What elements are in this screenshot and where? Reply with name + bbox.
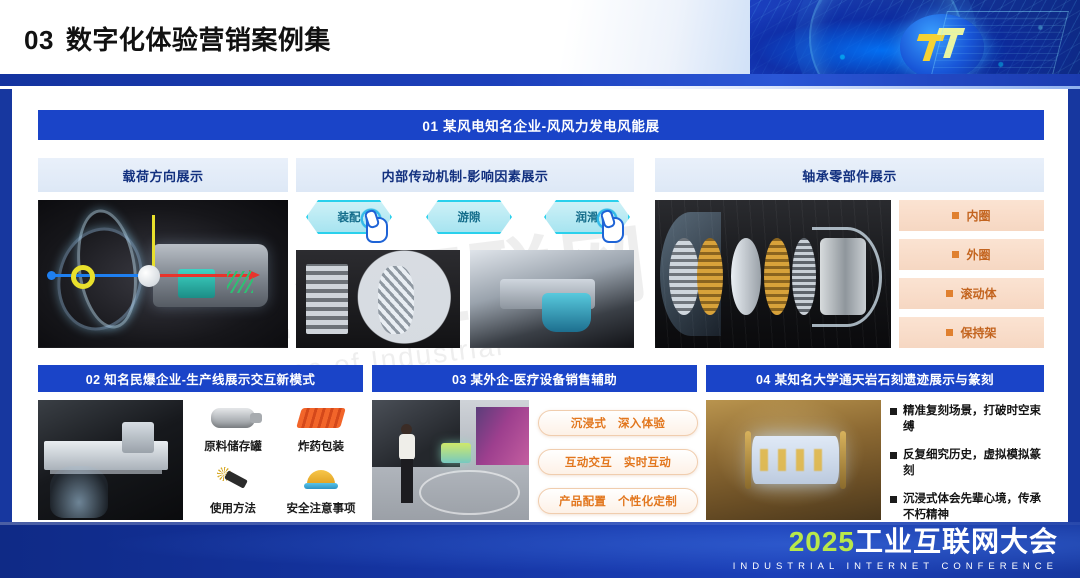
- dynamite-usage-icon: [190, 460, 276, 500]
- section-4-title-bar: 04 某知名大学通天岩石刻遗迹展示与篆刻: [706, 365, 1044, 392]
- bullet-square-icon: [946, 290, 953, 297]
- turbine-hub: [138, 265, 160, 287]
- bearing-part-label: 保持架: [960, 324, 996, 341]
- section-3-title-bar: 03 某外企-医疗设备销售辅助: [372, 365, 697, 392]
- bullet-text: 精准复刻场景，打破时空束缚: [903, 404, 1044, 435]
- panel-head-bearing-parts: 轴承零部件展示: [655, 158, 1044, 192]
- bearing-ring-3: [731, 238, 761, 315]
- presenter-figure: [399, 424, 416, 510]
- header-orb-decoration: [900, 14, 984, 80]
- page-title-number: 03: [24, 25, 54, 55]
- icon-item-label: 原料储存罐: [190, 438, 276, 454]
- vr-hand-overlay: [50, 466, 108, 518]
- slide-root: 03数字化体验营销案例集 工业互联网 Alliance of Industria…: [0, 0, 1080, 578]
- icon-item-label: 使用方法: [190, 500, 276, 516]
- icon-item-label: 安全注意事项: [278, 500, 364, 516]
- bullet-item-2: 反复细究历史，虚拟模拟篆刻: [890, 448, 1044, 479]
- panel-head-internal-mechanism: 内部传动机制-影响因素展示: [296, 158, 634, 192]
- bullet-square-icon: [890, 452, 897, 459]
- bullet-square-icon: [890, 496, 897, 503]
- bearing-part-label: 外圈: [966, 246, 990, 263]
- axis-arrow-blue: [53, 274, 143, 277]
- bearing-exploded-image: [655, 200, 891, 348]
- bearing-part-label: 内圈: [966, 207, 990, 224]
- right-edge-bar: [1068, 89, 1080, 522]
- experience-pill-list: 沉浸式 深入体验 互动交互 实时互动 产品配置 个性化定制: [538, 410, 698, 516]
- bullet-text: 反复细究历史，虚拟模拟篆刻: [903, 448, 1044, 479]
- bearing-part-rolling-element[interactable]: 滚动体: [899, 278, 1044, 309]
- slide-header: 03数字化体验营销案例集: [0, 0, 1080, 92]
- section-4-bullet-list: 精准复刻场景，打破时空束缚 反复细究历史，虚拟模拟篆刻 沉浸式体会先辈心境，传承…: [890, 404, 1044, 536]
- bullet-square-icon: [952, 212, 959, 219]
- conference-name-en: INDUSTRIAL INTERNET CONFERENCE: [733, 561, 1058, 572]
- showroom-floor-ring: [419, 470, 519, 516]
- explosive-package-icon: [278, 398, 364, 438]
- icon-item-safety-notes[interactable]: 安全注意事项: [278, 460, 364, 522]
- bullet-square-icon: [946, 329, 953, 336]
- bullet-item-1: 精准复刻场景，打破时空束缚: [890, 404, 1044, 435]
- lubrication-detail-image: [470, 250, 634, 348]
- bullet-item-3: 沉浸式体会先辈心境，传承不朽精神: [890, 492, 1044, 523]
- page-title-text: 数字化体验营销案例集: [66, 25, 331, 55]
- page-title: 03数字化体验营销案例集: [24, 20, 331, 57]
- panel-head-load-direction: 载荷方向展示: [38, 158, 288, 192]
- bearing-parts-list: 内圈 外圈 滚动体 保持架: [899, 200, 1044, 348]
- axis-ring-yellow-icon: [71, 265, 95, 289]
- cave-carving-projection-image: [706, 400, 881, 520]
- slide-footer: 2025工业互联网大会 INDUSTRIAL INTERNET CONFEREN…: [0, 522, 1080, 578]
- storage-tank-icon: [190, 398, 276, 438]
- bearing-part-outer-ring[interactable]: 外圈: [899, 239, 1044, 270]
- showroom-presenter-image: [372, 400, 529, 520]
- hex-button-clearance[interactable]: 游隙: [426, 200, 512, 234]
- conference-year: 2025: [789, 526, 855, 557]
- bullet-square-icon: [952, 251, 959, 258]
- conference-name-cn: 工业互联网大会: [855, 526, 1058, 557]
- projected-scroll: [752, 436, 840, 484]
- flow-arrows-green-icon: [227, 271, 253, 293]
- bullet-square-icon: [890, 408, 897, 415]
- pill-immersive[interactable]: 沉浸式 深入体验: [538, 410, 698, 436]
- scroll-inscription: [760, 449, 830, 470]
- holographic-object: [441, 443, 471, 463]
- pill-interactive[interactable]: 互动交互 实时互动: [538, 449, 698, 475]
- icon-item-label: 炸药包装: [278, 438, 364, 454]
- icon-item-explosive-package[interactable]: 炸药包装: [278, 398, 364, 460]
- bearing-ring-4: [764, 238, 790, 315]
- pill-configuration[interactable]: 产品配置 个性化定制: [538, 488, 698, 514]
- click-cursor-icon-2: [592, 206, 636, 246]
- production-line-vr-image: [38, 400, 183, 520]
- wind-turbine-load-direction-image: [38, 200, 288, 348]
- it-logo-icon: [918, 28, 966, 64]
- mechanism-hex-button-row: 装配 游隙 润滑: [296, 200, 634, 244]
- left-edge-bar: [0, 89, 12, 522]
- click-cursor-icon-1: [356, 206, 400, 246]
- bearing-outline-arc: [812, 227, 882, 328]
- gearbox-internal-image: [296, 250, 460, 348]
- bearing-part-label: 滚动体: [960, 285, 996, 302]
- conference-logo: 2025工业互联网大会 INDUSTRIAL INTERNET CONFEREN…: [733, 528, 1058, 572]
- section-2-title-bar: 02 知名民爆企业-生产线展示交互新模式: [38, 365, 363, 392]
- safety-helmet-icon: [278, 460, 364, 500]
- conference-logo-main: 2025工业互联网大会: [733, 528, 1058, 556]
- section-1-title-bar: 01 某风电知名企业-风风力发电风能展: [38, 110, 1044, 140]
- bearing-part-cage[interactable]: 保持架: [899, 317, 1044, 348]
- icon-item-storage-tank[interactable]: 原料储存罐: [190, 398, 276, 460]
- icon-item-usage-method[interactable]: 使用方法: [190, 460, 276, 522]
- explosive-icon-grid: 原料储存罐 炸药包装 使用方法 安全注意事项: [190, 398, 362, 522]
- bearing-part-inner-ring[interactable]: 内圈: [899, 200, 1044, 231]
- header-rule: [0, 74, 1080, 86]
- bullet-text: 沉浸式体会先辈心境，传承不朽精神: [903, 492, 1044, 523]
